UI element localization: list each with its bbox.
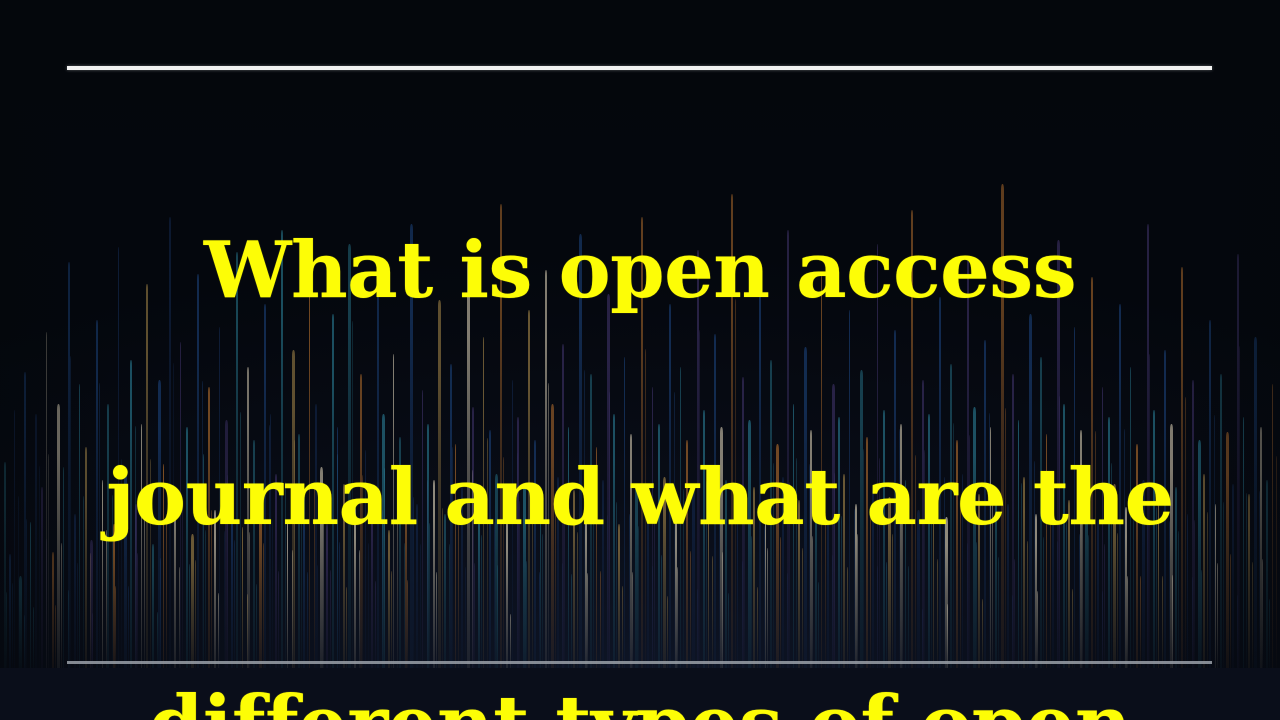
headline-line-1: What is open access [24, 233, 1256, 309]
top-divider-rule [67, 66, 1212, 70]
page-title: What is open access journal and what are… [0, 82, 1280, 720]
bottom-divider-rule [67, 661, 1212, 664]
headline-line-3: different types of open [24, 687, 1256, 720]
title-card-slide: What is open access journal and what are… [0, 0, 1280, 720]
headline-line-2: journal and what are the [24, 460, 1256, 536]
